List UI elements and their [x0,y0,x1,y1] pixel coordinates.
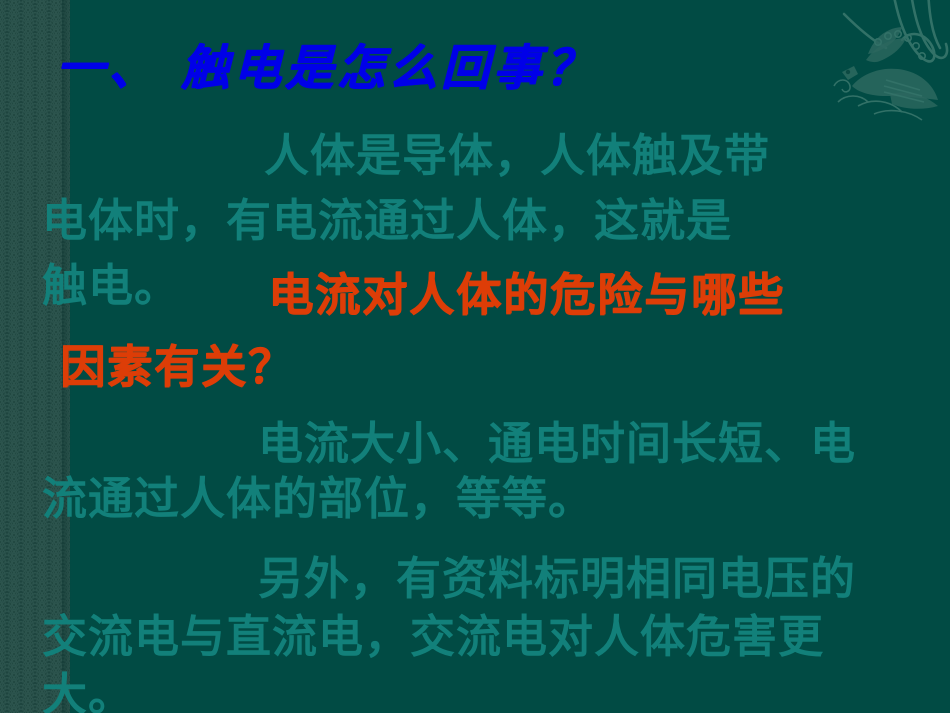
paragraph-note-line-1: 另外，有资料标明相同电压的 [258,556,856,601]
paragraph-factors-line-1: 电流大小、通电时间长短、电 [258,421,856,466]
paragraph-note-line-2: 交流电与直流电，交流电对人体危害更 [42,614,824,659]
paragraph-note-line-3: 大。 [42,672,134,713]
paragraph-question-line-2: 因素有关？ [60,344,295,389]
slide-text-content: 一、 触电是怎么回事？ 人体是导体，人体触及带 电体时，有电流通过人体，这就是 … [0,0,950,713]
paragraph-factors-line-2: 流通过人体的部位，等等。 [42,476,594,521]
paragraph-question-line-1: 电流对人体的危险与哪些 [268,272,785,317]
presentation-slide: 一、 触电是怎么回事？ 人体是导体，人体触及带 电体时，有电流通过人体，这就是 … [0,0,950,713]
paragraph-definition-line-1: 人体是导体，人体触及带 [264,133,770,178]
paragraph-definition-line-3: 触电。 [42,263,180,308]
paragraph-definition-line-2: 电体时，有电流通过人体，这就是 [42,198,732,243]
slide-title: 一、 触电是怎么回事？ [56,44,597,92]
